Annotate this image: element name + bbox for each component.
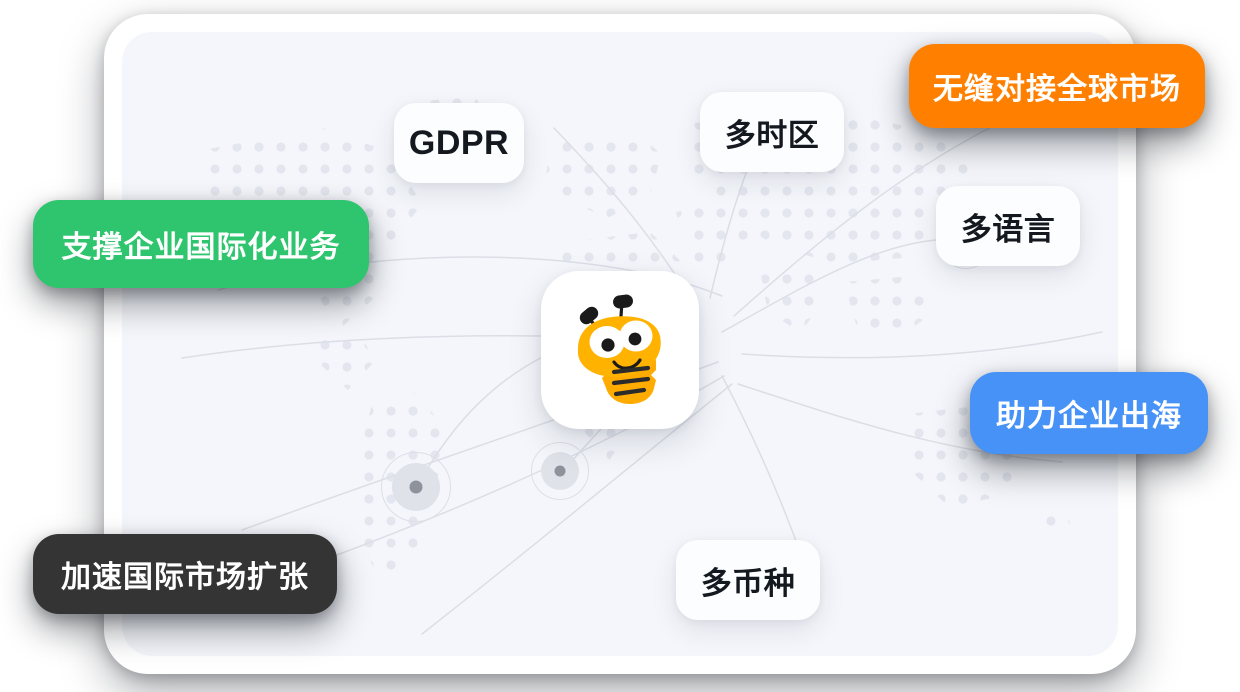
node-dot-icon — [410, 481, 423, 494]
feature-card-gdpr[interactable]: GDPR — [394, 103, 524, 183]
badge-support-internationalization[interactable]: 支撑企业国际化业务 — [33, 200, 369, 288]
feature-card-label: 多时区 — [725, 110, 820, 155]
badge-accelerate-expansion[interactable]: 加速国际市场扩张 — [33, 534, 337, 614]
badge-label: 助力企业出海 — [996, 391, 1182, 435]
feature-card-timezone[interactable]: 多时区 — [700, 92, 844, 172]
badge-label: 无缝对接全球市场 — [933, 64, 1181, 108]
node-dot-icon — [555, 466, 566, 477]
badge-go-global[interactable]: 助力企业出海 — [970, 372, 1208, 454]
bee-logo-tile[interactable] — [541, 271, 699, 429]
illustration-stage: GDPR 多时区 多语言 多币种 — [0, 0, 1240, 692]
bee-mascot-icon — [556, 286, 684, 414]
feature-card-label: 多币种 — [701, 558, 796, 603]
badge-label: 加速国际市场扩张 — [61, 552, 309, 596]
feature-card-language[interactable]: 多语言 — [936, 186, 1080, 266]
feature-card-currency[interactable]: 多币种 — [676, 540, 820, 620]
feature-card-label: 多语言 — [961, 204, 1056, 249]
feature-card-label: GDPR — [409, 124, 509, 163]
badge-label: 支撑企业国际化业务 — [62, 222, 341, 266]
badge-seamless-global-market[interactable]: 无缝对接全球市场 — [909, 44, 1205, 128]
